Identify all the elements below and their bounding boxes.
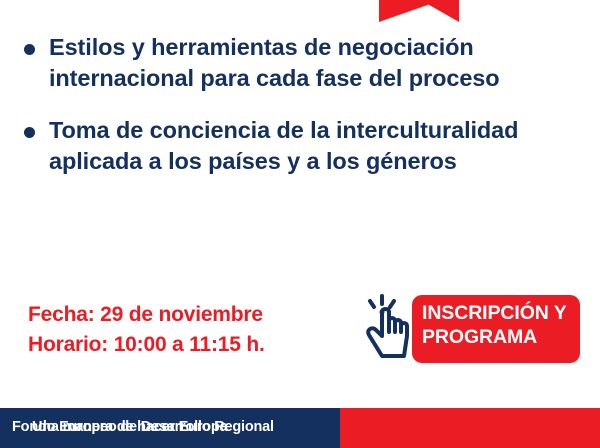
top-ribbon-decoration bbox=[379, 0, 459, 22]
schedule-block: Fecha: 29 de noviembre Horario: 10:00 a … bbox=[28, 300, 265, 361]
inscription-label: INSCRIPCIÓN Y PROGRAMA bbox=[422, 302, 580, 350]
bullet-list: Estilos y herramientas de negociación in… bbox=[24, 32, 584, 197]
list-item: Estilos y herramientas de negociación in… bbox=[24, 32, 584, 95]
bullet-text: Estilos y herramientas de negociación in… bbox=[49, 32, 554, 95]
schedule-time: Horario: 10:00 a 11:15 h. bbox=[28, 330, 265, 360]
inscription-cta[interactable]: INSCRIPCIÓN Y PROGRAMA bbox=[352, 290, 580, 368]
hand-pointer-icon bbox=[352, 290, 430, 368]
bullet-text: Toma de conciencia de la interculturalid… bbox=[49, 115, 554, 178]
bullet-dot-icon bbox=[24, 44, 35, 55]
bullet-dot-icon bbox=[24, 127, 35, 138]
list-item: Toma de conciencia de la interculturalid… bbox=[24, 115, 584, 178]
footer-bar: Fondo Europeo de Desarrollo Regional Una… bbox=[0, 408, 600, 448]
footer-right-text: Una manera de hacer Europa bbox=[32, 419, 227, 435]
ribbon-shape-icon bbox=[379, 0, 459, 22]
footer-right-panel bbox=[340, 408, 600, 448]
schedule-date: Fecha: 29 de noviembre bbox=[28, 300, 265, 330]
